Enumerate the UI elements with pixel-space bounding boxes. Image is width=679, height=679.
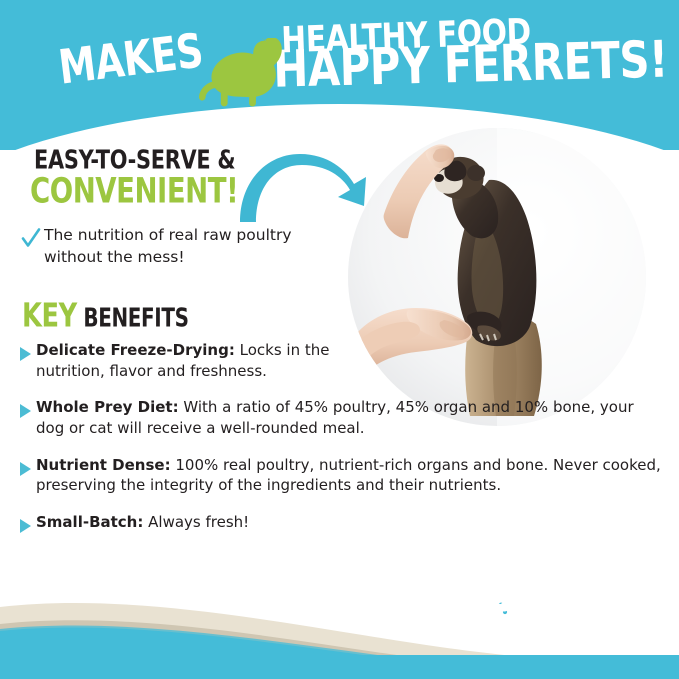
triangle-bullet-icon [14, 343, 36, 365]
paw-print-icon [476, 589, 494, 607]
convenient-heading: CONVENIENT! [30, 170, 238, 211]
registered-mark: ® [621, 591, 632, 604]
footer: Raw Paws® PET FOOD [0, 569, 679, 679]
benefit-title: Nutrient Dense [36, 456, 165, 474]
benefit-title: Delicate Freeze-Drying [36, 341, 229, 359]
benefit-text: Nutrient Dense: 100% real poultry, nutri… [36, 455, 666, 496]
key-benefits-heading: KEY BENEFITS [22, 297, 189, 335]
curved-arrow-icon [238, 148, 388, 226]
brand-logo[interactable]: Raw Paws® PET FOOD [472, 589, 631, 641]
key-benefits-heading-rest: BENEFITS [83, 303, 188, 332]
poster-root: MAKES HEALTHY FOOD HAPPY FERRETS! EASY-T… [0, 0, 679, 679]
triangle-bullet-icon [14, 458, 36, 480]
benefit-text: Delicate Freeze-Drying: Locks in the nut… [36, 340, 336, 381]
benefit-separator: : [229, 341, 235, 359]
triangle-bullet-icon [14, 400, 36, 422]
benefit-text: Small-Batch: Always fresh! [36, 512, 249, 533]
list-item: Whole Prey Diet: With a ratio of 45% pou… [14, 397, 666, 438]
key-benefits-heading-highlight: KEY [22, 297, 77, 335]
benefit-body: Always fresh! [148, 513, 249, 531]
triangle-bullet-icon [14, 515, 36, 537]
list-item: Delicate Freeze-Drying: Locks in the nut… [14, 340, 666, 381]
ferret-silhouette-icon [196, 38, 288, 108]
benefit-title: Whole Prey Diet [36, 398, 173, 416]
footer-branding: Raw Paws® PET FOOD [0, 569, 679, 679]
benefit-title: Small-Batch [36, 513, 137, 531]
checkmark-icon [20, 226, 42, 250]
check-text: The nutrition of real raw poultry withou… [42, 224, 342, 268]
benefits-list: Delicate Freeze-Drying: Locks in the nut… [14, 340, 666, 553]
check-row: The nutrition of real raw poultry withou… [20, 224, 350, 268]
benefit-separator: : [173, 398, 179, 416]
list-item: Nutrient Dense: 100% real poultry, nutri… [14, 455, 666, 496]
benefit-text: Whole Prey Diet: With a ratio of 45% pou… [36, 397, 666, 438]
brand-name: Raw Paws® [476, 589, 631, 616]
list-item: Small-Batch: Always fresh! [14, 512, 666, 537]
brand-name-text: Raw Paws [476, 587, 621, 618]
benefit-separator: : [137, 513, 143, 531]
benefit-separator: : [165, 456, 171, 474]
vertical-divider [444, 592, 447, 643]
